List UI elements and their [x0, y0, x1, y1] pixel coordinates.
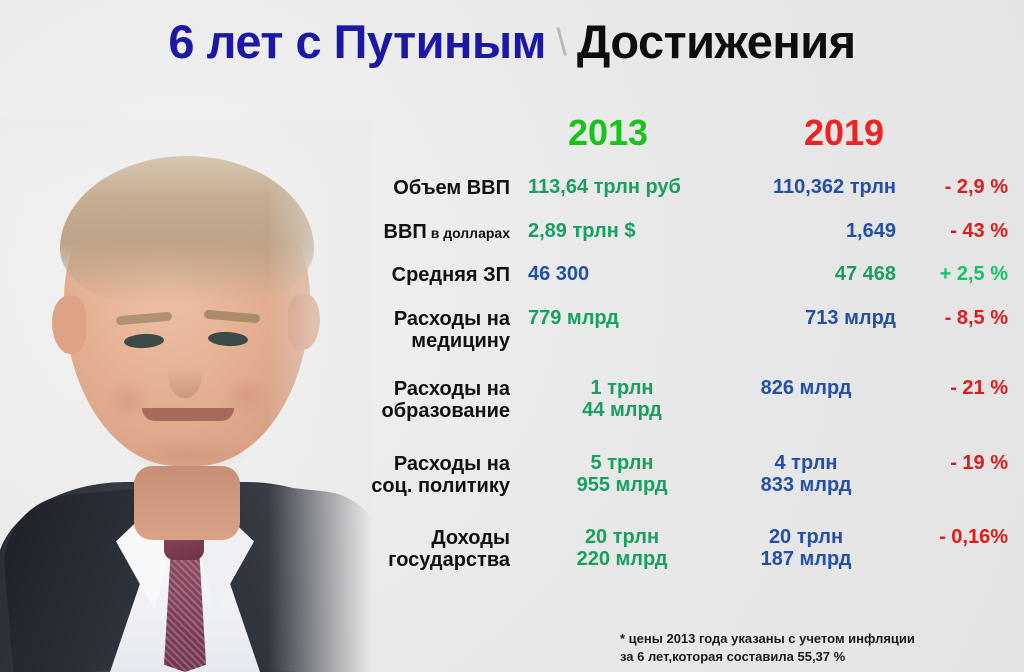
value-2019: 110,362 трлн	[716, 176, 902, 198]
nose-shape	[168, 346, 202, 398]
row-label: Объем ВВП	[368, 176, 520, 199]
title-black-text: Достижения	[577, 14, 856, 69]
page-title: 6 лет с Путиным \ Достижения	[0, 14, 1024, 69]
value-2019: 1,649	[716, 220, 902, 242]
table-row: Расходы на образование1 трлн 44 млрд826 …	[368, 377, 1018, 452]
value-2013: 46 300	[520, 263, 716, 285]
table-row: Средняя ЗП46 30047 468+ 2,5 %	[368, 263, 1018, 307]
row-label: Расходы на образование	[368, 377, 520, 423]
portrait-photo	[0, 118, 372, 672]
value-2019: 826 млрд	[716, 377, 902, 399]
value-2019: 4 трлн 833 млрд	[716, 452, 902, 497]
value-2013: 779 млрд	[520, 307, 716, 329]
value-change: + 2,5 %	[902, 263, 1008, 285]
value-change: - 2,9 %	[902, 176, 1008, 198]
ear-right	[288, 294, 320, 350]
row-label: Расходы на медицину	[368, 307, 520, 353]
value-2013: 113,64 трлн руб	[520, 176, 716, 198]
ear-left	[52, 296, 86, 354]
value-2013: 20 трлн 220 млрд	[520, 526, 716, 571]
value-change: - 0,16%	[902, 526, 1008, 548]
footnote-text: * цены 2013 года указаны с учетом инфляц…	[620, 630, 1020, 667]
column-header-2019: 2019	[744, 112, 944, 154]
value-change: - 21 %	[902, 377, 1008, 399]
column-header-2013: 2013	[508, 112, 708, 154]
value-change: - 8,5 %	[902, 307, 1008, 329]
title-blue-text: 6 лет с Путиным	[168, 14, 545, 69]
value-2013: 1 трлн 44 млрд	[520, 377, 716, 422]
hair-shape	[60, 156, 314, 306]
table-row: Расходы на соц. политику5 трлн 955 млрд4…	[368, 452, 1018, 526]
table-row: Доходы государства20 трлн 220 млрд20 трл…	[368, 526, 1018, 598]
row-label: Расходы на соц. политику	[368, 452, 520, 498]
row-label: Доходы государства	[368, 526, 520, 572]
value-change: - 43 %	[902, 220, 1008, 242]
value-2013: 2,89 трлн $	[520, 220, 716, 242]
infographic-canvas: 6 лет с Путиным \ Достижения 2013 2019 О…	[0, 0, 1024, 672]
table-row: Объем ВВП113,64 трлн руб110,362 трлн- 2,…	[368, 176, 1018, 220]
neck-shape	[134, 466, 240, 540]
comparison-table: Объем ВВП113,64 трлн руб110,362 трлн- 2,…	[368, 176, 1018, 598]
table-row: ВВП в долларах2,89 трлн $1,649- 43 %	[368, 220, 1018, 263]
row-label-sub: в долларах	[427, 225, 510, 241]
necktie-shape	[164, 552, 206, 672]
value-2019: 20 трлн 187 млрд	[716, 526, 902, 571]
chin-shade	[130, 436, 248, 472]
row-label: Средняя ЗП	[368, 263, 520, 286]
title-separator: \	[550, 22, 572, 65]
value-2019: 47 468	[716, 263, 902, 285]
row-label: ВВП в долларах	[368, 220, 520, 243]
value-2013: 5 трлн 955 млрд	[520, 452, 716, 497]
table-row: Расходы на медицину779 млрд713 млрд- 8,5…	[368, 307, 1018, 377]
mouth-shape	[142, 408, 234, 421]
value-2019: 713 млрд	[716, 307, 902, 329]
value-change: - 19 %	[902, 452, 1008, 474]
